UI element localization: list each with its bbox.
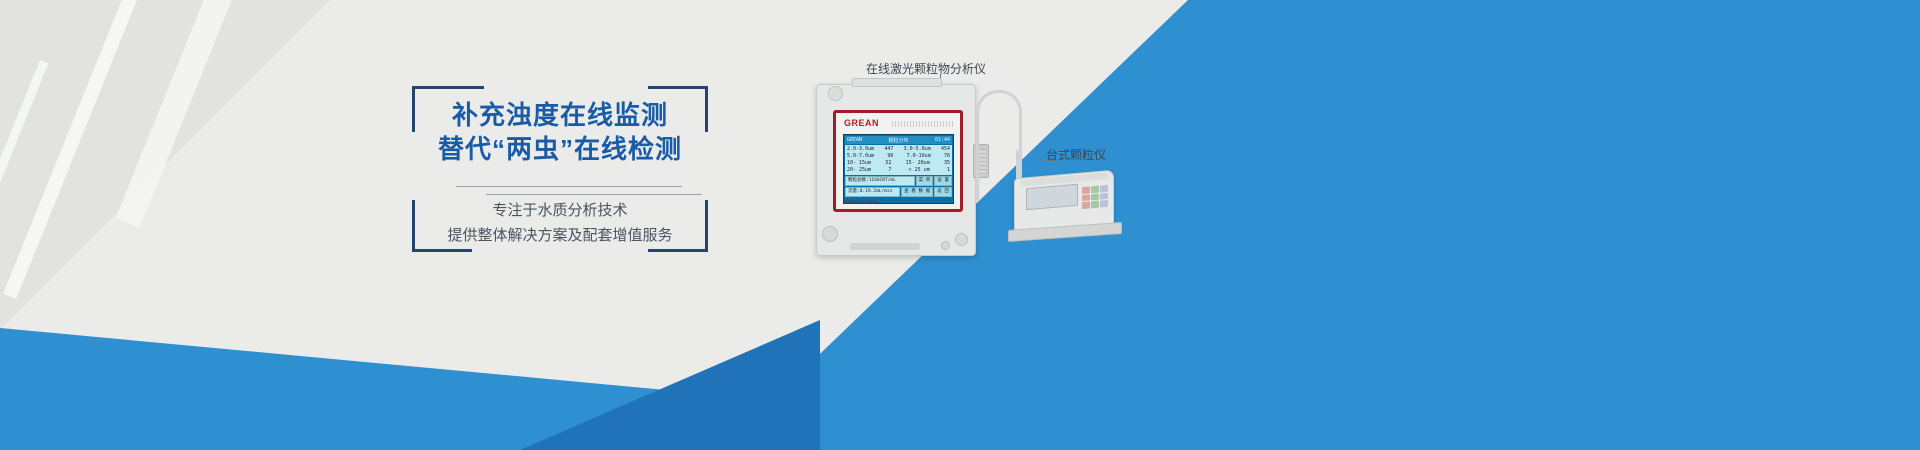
bench-key[interactable] xyxy=(1100,193,1108,200)
subtitle-group: 专注于水质分析技术 提供整体解决方案及配套增值服务 xyxy=(412,198,708,248)
cell-count-right: 35 xyxy=(944,160,950,167)
lcd-particle-table: 2.0-3.0um 447 3.0-5.0um 454 5.0-7.0um 96… xyxy=(845,145,952,175)
cell-range-left: 20- 25um xyxy=(847,167,871,174)
lcd-button-back[interactable]: 返 回 xyxy=(934,187,952,197)
benchtop-particle-counter xyxy=(1014,168,1122,246)
bench-key[interactable] xyxy=(1100,185,1108,192)
lcd-status-area: 颗粒总数:1166CNT/mL 菜 单 设 置 流量:0.19.2mL/min … xyxy=(845,176,952,197)
cell-range-left: 5.0-7.0um xyxy=(847,153,874,160)
bench-keypad[interactable] xyxy=(1082,185,1108,209)
headline-divider xyxy=(456,186,682,187)
lcd-status-row-1: 颗粒总数:1166CNT/mL 菜 单 设 置 xyxy=(845,176,952,186)
lcd-title-center: 颗粒分布 xyxy=(888,137,908,144)
lcd-title-right: 01:44 xyxy=(935,137,950,143)
online-laser-particle-analyzer: GREAN GREAN 颗粒分布 01:44 2.0-3.0um 447 3.0… xyxy=(816,84,976,256)
analyzer-top-hinge xyxy=(852,78,942,87)
table-row: 2.0-3.0um 447 3.0-5.0um 454 xyxy=(847,146,950,153)
cell-range-right: 7.0-10um xyxy=(907,153,931,160)
lcd-total-count: 颗粒总数:1166CNT/mL xyxy=(845,176,915,186)
headline-line-1: 补充浊度在线监测 xyxy=(412,98,708,132)
subtitle-line-2: 提供整体解决方案及配套增值服务 xyxy=(412,223,708,248)
bench-key[interactable] xyxy=(1091,186,1099,193)
analyzer-footer-text: 重庆格林自动分析仪 xyxy=(844,200,877,205)
cell-count-left: 52 xyxy=(885,160,891,167)
lcd-button-settings[interactable]: 设 置 xyxy=(934,176,952,186)
bench-key[interactable] xyxy=(1091,201,1099,208)
cell-count-right: 1 xyxy=(947,167,950,174)
cell-count-right: 76 xyxy=(944,153,950,160)
cell-range-right: > 25 um xyxy=(909,167,930,174)
lcd-flow-rate: 流量:0.19.2mL/min xyxy=(845,187,900,197)
analyzer-bottom-ports xyxy=(850,243,920,250)
cell-range-left: 10- 15um xyxy=(847,160,871,167)
analyzer-front-panel: GREAN GREAN 颗粒分布 01:44 2.0-3.0um 447 3.0… xyxy=(833,110,963,212)
table-row: 10- 15um 52 15- 20um 35 xyxy=(847,160,950,167)
lcd-button-view-data[interactable]: 查 看 数 据 xyxy=(901,187,933,197)
lcd-title-left: GREAN xyxy=(847,137,862,143)
lcd-status-row-2: 流量:0.19.2mL/min 查 看 数 据 返 回 xyxy=(845,187,952,197)
cell-count-left: 96 xyxy=(887,153,893,160)
cell-range-right: 3.0-5.0um xyxy=(904,146,931,153)
analyzer-lcd-screen[interactable]: GREAN 颗粒分布 01:44 2.0-3.0um 447 3.0-5.0um… xyxy=(843,134,954,204)
headline-block: 补充浊度在线监测 替代“两虫”在线检测 专注于水质分析技术 提供整体解决方案及配… xyxy=(412,86,708,252)
bench-key[interactable] xyxy=(1082,194,1090,201)
analyzer-latch-knob xyxy=(828,86,843,101)
bench-key[interactable] xyxy=(1091,193,1099,200)
headline-divider-secondary xyxy=(486,194,702,195)
bench-key[interactable] xyxy=(1082,186,1090,193)
bench-display[interactable] xyxy=(1026,184,1078,211)
bench-key[interactable] xyxy=(1100,200,1108,207)
headline-line-2: 替代“两虫”在线检测 xyxy=(412,132,708,166)
cable-gland-icon xyxy=(822,226,838,242)
bench-leader-line xyxy=(1044,160,1058,161)
table-row: 5.0-7.0um 96 7.0-10um 76 xyxy=(847,153,950,160)
bench-key[interactable] xyxy=(1082,202,1090,209)
table-row: 20- 25um 7 > 25 um 1 xyxy=(847,167,950,174)
analyzer-vent-grille xyxy=(892,121,954,127)
cell-count-right: 454 xyxy=(941,146,950,153)
analyzer-brand-logo: GREAN xyxy=(844,118,879,128)
cable-gland-icon xyxy=(941,241,950,250)
subtitle-line-1: 专注于水质分析技术 xyxy=(412,198,708,223)
lcd-title-bar: GREAN 颗粒分布 01:44 xyxy=(845,136,952,144)
headline: 补充浊度在线监测 替代“两虫”在线检测 xyxy=(412,98,708,166)
cell-range-right: 15- 20um xyxy=(906,160,930,167)
cell-range-left: 2.0-3.0um xyxy=(847,146,874,153)
hero-banner: 补充浊度在线监测 替代“两虫”在线检测 专注于水质分析技术 提供整体解决方案及配… xyxy=(0,0,1920,450)
cell-count-left: 447 xyxy=(884,146,893,153)
cell-count-left: 7 xyxy=(888,167,891,174)
cable-gland-icon xyxy=(955,233,968,246)
analyzer-label: 在线激光颗粒物分析仪 xyxy=(866,60,986,77)
lcd-button-menu[interactable]: 菜 单 xyxy=(916,176,934,186)
